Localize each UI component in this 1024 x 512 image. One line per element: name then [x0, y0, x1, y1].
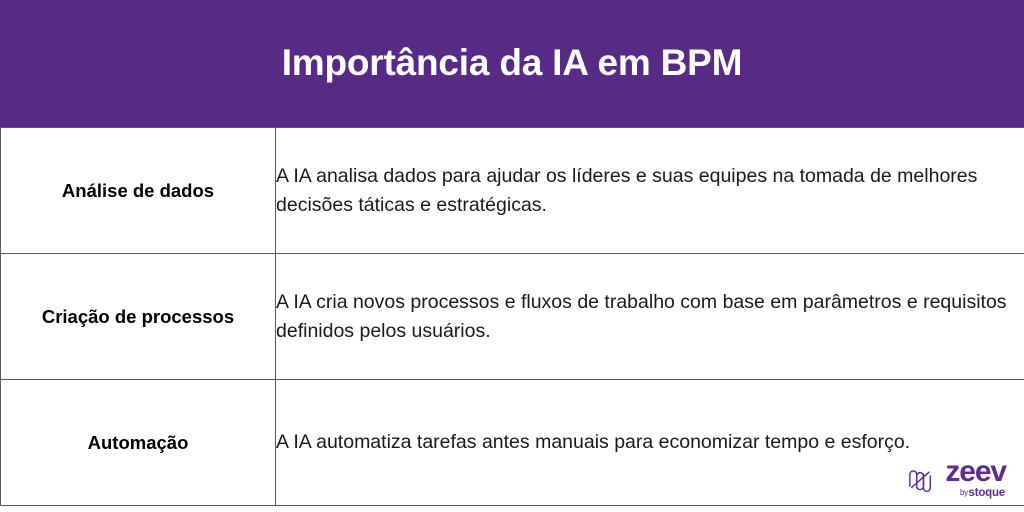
row-label: Criação de processos: [1, 305, 275, 328]
logo-by-label: by: [960, 488, 968, 497]
row-label: Automação: [1, 431, 275, 454]
table-row: Criação de processos A IA cria novos pro…: [1, 254, 1024, 380]
table-container: Análise de dados A IA analisa dados para…: [0, 127, 1024, 506]
row-description: A IA automatiza tarefas antes manuais pa…: [276, 428, 1024, 456]
row-description: A IA analisa dados para ajudar os lídere…: [276, 162, 1024, 219]
importance-table: Análise de dados A IA analisa dados para…: [0, 127, 1024, 506]
table-row: Análise de dados A IA analisa dados para…: [1, 128, 1024, 254]
row-description-cell: A IA cria novos processos e fluxos de tr…: [276, 254, 1024, 380]
zeev-monogram-icon: [903, 462, 938, 496]
brand-logo: zeev bystoque: [903, 458, 1006, 499]
row-label-cell: Análise de dados: [1, 128, 276, 254]
logo-wordmark: zeev bystoque: [945, 458, 1006, 499]
header-banner: Importância da IA em BPM: [0, 0, 1024, 127]
logo-parent-brand: bystoque: [960, 488, 1005, 500]
infographic-root: Importância da IA em BPM Análise de dado…: [0, 0, 1024, 512]
row-description: A IA cria novos processos e fluxos de tr…: [276, 288, 1024, 345]
page-title: Importância da IA em BPM: [262, 43, 763, 84]
row-label-cell: Criação de processos: [1, 254, 276, 380]
table-body: Análise de dados A IA analisa dados para…: [1, 128, 1024, 506]
row-label-cell: Automação: [1, 380, 276, 506]
row-label: Análise de dados: [1, 179, 275, 202]
row-description-cell: A IA analisa dados para ajudar os lídere…: [276, 128, 1024, 254]
logo-word-zeev: zeev: [945, 458, 1006, 487]
table-row: Automação A IA automatiza tarefas antes …: [1, 380, 1024, 506]
logo-stoque-label: stoque: [969, 487, 1006, 499]
